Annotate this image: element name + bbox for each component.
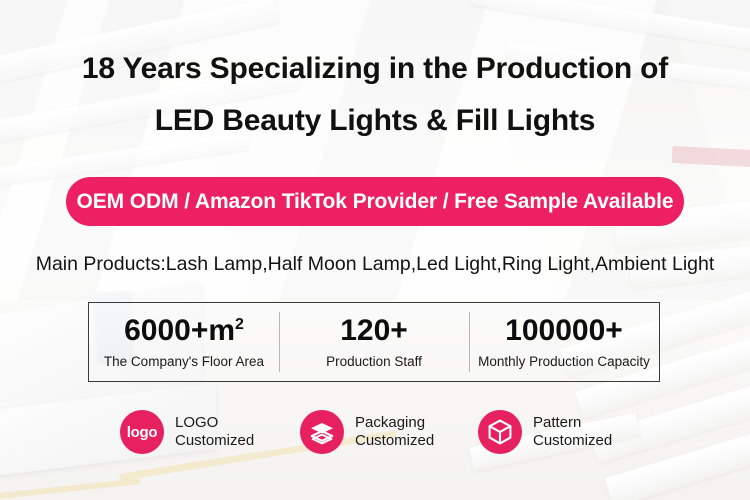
layers-stack-icon — [300, 410, 344, 454]
stat-item-monthly-capacity: 100000+ Monthly Production Capacity — [469, 303, 659, 381]
cube-box-icon — [478, 410, 522, 454]
feature-pattern-customized: Pattern Customized — [478, 410, 678, 454]
stat-item-production-staff: 120+ Production Staff — [279, 303, 469, 381]
headline-line-1: 18 Years Specializing in the Production … — [0, 52, 750, 85]
stat-number: 120+ — [340, 314, 408, 347]
stats-box: 6000+m2 The Company's Floor Area 120+ Pr… — [88, 302, 660, 382]
stat-number: 100000+ — [505, 314, 623, 347]
feature-label-line-1: Pattern — [533, 414, 581, 431]
feature-label: LOGO Customized — [175, 414, 254, 451]
stat-label: Production Staff — [326, 354, 422, 369]
stat-label: The Company's Floor Area — [104, 354, 264, 369]
stat-number: 6000+m — [124, 314, 235, 347]
feature-logo-customized: logo LOGO Customized — [120, 410, 300, 454]
offer-pill-banner: OEM ODM / Amazon TikTok Provider / Free … — [66, 177, 684, 226]
stat-superscript: 2 — [235, 316, 244, 333]
feature-packaging-customized: Packaging Customized — [300, 410, 478, 454]
feature-label-line-1: LOGO — [175, 414, 218, 431]
offer-pill-text: OEM ODM / Amazon TikTok Provider / Free … — [77, 190, 674, 214]
feature-label-line-2: Customized — [355, 432, 434, 449]
feature-label: Packaging Customized — [355, 414, 434, 451]
feature-label: Pattern Customized — [533, 414, 612, 451]
logo-circle-icon: logo — [120, 410, 164, 454]
stat-label: Monthly Production Capacity — [478, 354, 650, 369]
stat-value: 120+ — [340, 316, 408, 346]
main-products-line: Main Products:Lash Lamp,Half Moon Lamp,L… — [0, 253, 750, 276]
feature-row: logo LOGO Customized Packaging — [120, 402, 680, 462]
logo-icon-text: logo — [127, 424, 157, 441]
promo-banner: 18 Years Specializing in the Production … — [0, 0, 750, 500]
feature-label-line-2: Customized — [175, 432, 254, 449]
feature-label-line-1: Packaging — [355, 414, 425, 431]
banner-content: 18 Years Specializing in the Production … — [0, 0, 750, 500]
stat-value: 100000+ — [505, 316, 623, 346]
headline-line-2: LED Beauty Lights & Fill Lights — [0, 104, 750, 137]
stat-value: 6000+m2 — [124, 316, 244, 346]
feature-label-line-2: Customized — [533, 432, 612, 449]
stat-item-floor-area: 6000+m2 The Company's Floor Area — [89, 303, 279, 381]
